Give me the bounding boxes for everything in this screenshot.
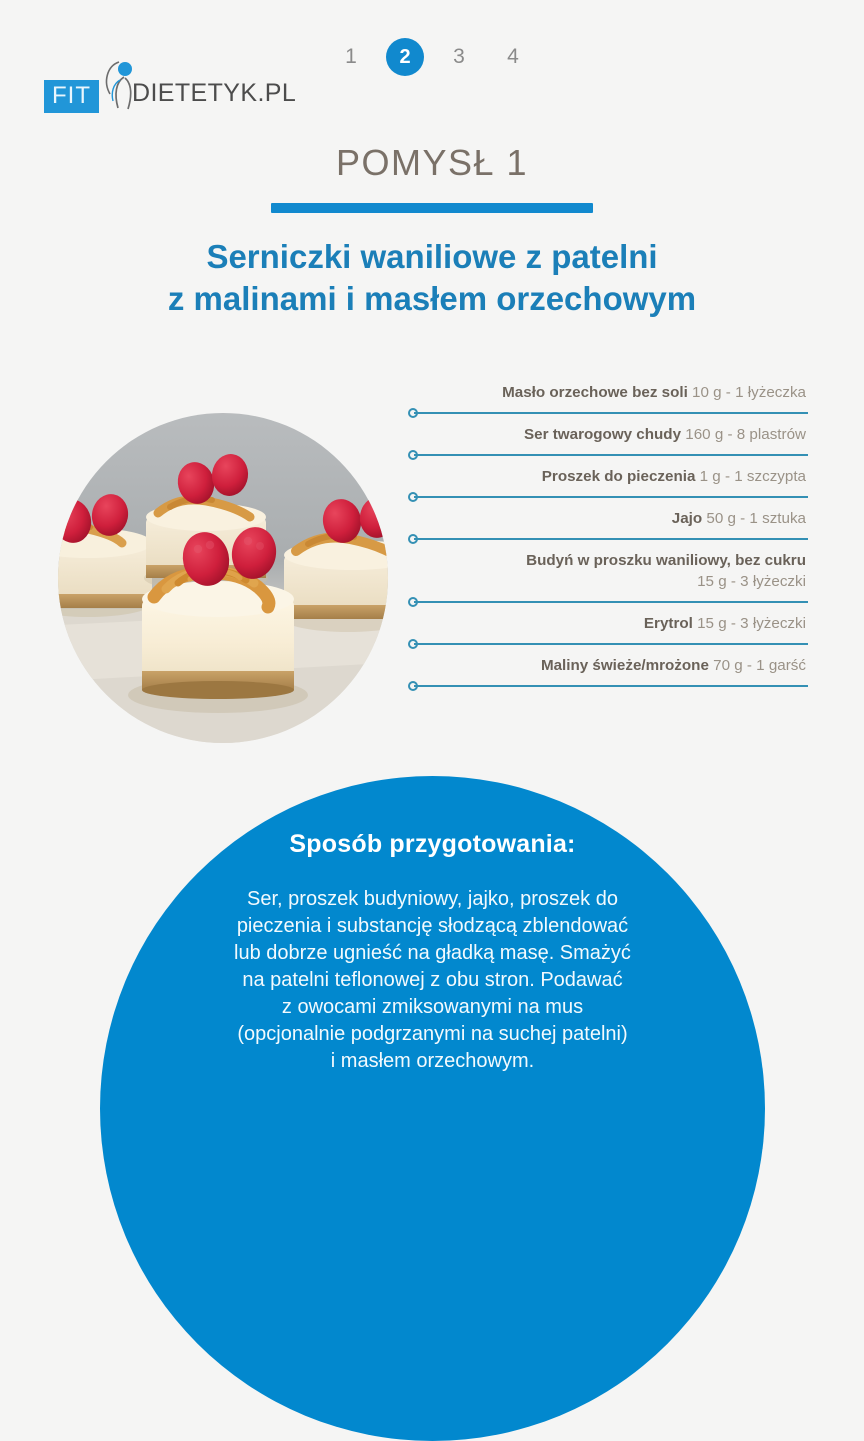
preparation-line: Ser, proszek budyniowy, jajko, proszek d… [100,886,765,913]
preparation-line: i masłem orzechowym. [100,1048,765,1075]
divider-bar [414,685,808,687]
ingredient-text: Proszek do pieczenia 1 g - 1 szczypta [408,466,808,492]
ingredient-text: Erytrol 15 g - 3 łyżeczki [408,613,808,639]
pagination: 1 2 3 4 [332,38,532,76]
ingredient-text: Jajo 50 g - 1 sztuka [408,508,808,534]
ingredient-name: Proszek do pieczenia [542,468,696,485]
ingredient-text: Masło orzechowe bez soli 10 g - 1 łyżecz… [408,382,808,408]
pagination-page-3[interactable]: 3 [440,38,478,76]
ingredient-divider [408,450,808,460]
ingredient-name: Jajo [672,510,702,527]
ingredient-amount: 50 g - 1 sztuka [706,510,806,527]
ingredient-divider [408,408,808,418]
logo-wordmark: DIETETYK.PL [132,79,296,108]
ingredient-name: Budyń w proszku waniliowy, bez cukru [526,552,806,569]
ingredient-row: Budyń w proszku waniliowy, bez cukru15 g… [408,550,808,613]
title-divider [271,203,593,213]
pagination-page-1[interactable]: 1 [332,38,370,76]
ingredient-name: Maliny świeże/mrożone [541,657,709,674]
ingredient-row: Maliny świeże/mrożone 70 g - 1 garść [408,655,808,697]
ingredient-name: Masło orzechowe bez soli [502,384,688,401]
ingredient-divider [408,534,808,544]
preparation-line: na patelni teflonowej z obu stron. Podaw… [100,967,765,994]
ingredient-divider [408,681,808,691]
idea-label: POMYSŁ 1 [0,142,864,184]
page-header: 1 2 3 4 FIT DIETETYK.PL [0,0,864,125]
ingredient-row: Masło orzechowe bez soli 10 g - 1 łyżecz… [408,382,808,424]
pagination-page-4[interactable]: 4 [494,38,532,76]
divider-bar [414,601,808,603]
ingredient-row: Proszek do pieczenia 1 g - 1 szczypta [408,466,808,508]
ingredient-amount: 15 g - 3 łyżeczki [697,615,806,632]
ingredient-name: Erytrol [644,615,693,632]
ingredient-text: Ser twarogowy chudy 160 g - 8 plastrów [408,424,808,450]
preparation-line: lub dobrze ugnieść na gładką masę. Smaży… [100,940,765,967]
preparation-heading: Sposób przygotowania: [100,830,765,859]
recipe-photo [58,413,388,743]
ingredient-amount: 15 g - 3 łyżeczki [697,573,806,590]
recipe-title: Serniczki waniliowe z patelni z malinami… [0,236,864,320]
ingredient-row: Ser twarogowy chudy 160 g - 8 plastrów [408,424,808,466]
divider-bar [414,454,808,456]
ingredient-amount: 1 g - 1 szczypta [700,468,806,485]
recipe-title-line-2: z malinami i masłem orzechowym [0,278,864,320]
divider-bar [414,643,808,645]
divider-bar [414,412,808,414]
recipe-title-line-1: Serniczki waniliowe z patelni [0,236,864,278]
ingredient-amount: 10 g - 1 łyżeczka [692,384,806,401]
ingredient-amount: 160 g - 8 plastrów [685,426,806,443]
preparation-line: z owocami zmiksowanymi na mus [100,994,765,1021]
preparation-line: (opcjonalnie podgrzanymi na suchej patel… [100,1021,765,1048]
ingredient-amount: 70 g - 1 garść [713,657,806,674]
ingredient-row: Erytrol 15 g - 3 łyżeczki [408,613,808,655]
preparation-section: Sposób przygotowania: Ser, proszek budyn… [100,776,765,1080]
ingredient-divider [408,597,808,607]
divider-bar [414,538,808,540]
ingredient-row: Jajo 50 g - 1 sztuka [408,508,808,550]
ingredient-text: Maliny świeże/mrożone 70 g - 1 garść [408,655,808,681]
ingredient-divider [408,492,808,502]
preparation-line: pieczenia i substancję słodzącą zblendow… [100,913,765,940]
ingredient-divider [408,639,808,649]
divider-bar [414,496,808,498]
logo-fit-badge: FIT [44,80,99,113]
pagination-page-2[interactable]: 2 [386,38,424,76]
brand-logo[interactable]: FIT DIETETYK.PL [44,60,259,112]
ingredient-name: Ser twarogowy chudy [524,426,681,443]
preparation-text: Ser, proszek budyniowy, jajko, proszek d… [100,886,765,1075]
ingredient-text: Budyń w proszku waniliowy, bez cukru15 g… [408,550,808,597]
ingredients-list: Masło orzechowe bez soli 10 g - 1 łyżecz… [408,382,808,697]
